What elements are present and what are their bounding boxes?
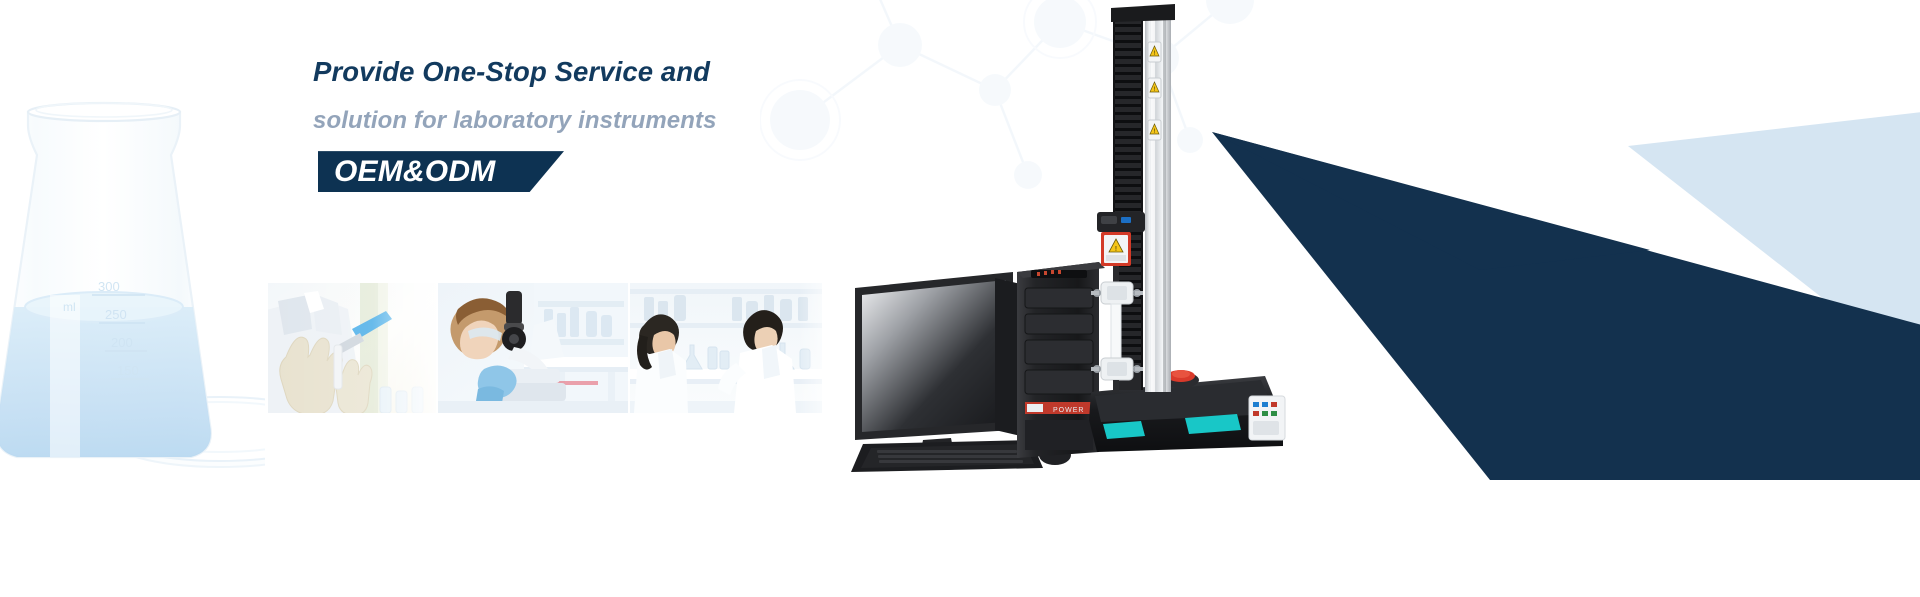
flask-grad-150: 150	[117, 363, 139, 378]
copy-block: Provide One-Stop Service and solution fo…	[313, 58, 933, 192]
badge-label: OEM&ODM	[334, 152, 495, 193]
warning-label-group: ! ! !	[1148, 42, 1161, 140]
hardware-group: POWER	[845, 0, 1920, 480]
flask-grad-300: 300	[98, 279, 120, 294]
oem-odm-badge: OEM&ODM	[318, 151, 564, 192]
headline: Provide One-Stop Service and	[313, 58, 933, 87]
subheadline: solution for laboratory instruments	[313, 108, 933, 133]
photo-gloved-hands-pipette	[268, 283, 436, 413]
flask-unit-label: ml	[63, 300, 76, 314]
universal-tensile-testing-machine: ! ! ! !	[1089, 4, 1285, 452]
photo-lab-technicians	[630, 283, 822, 413]
flask-grad-200: 200	[111, 335, 133, 350]
crosshead-warning-glyph: !	[1115, 246, 1117, 253]
desktop-monitor	[855, 272, 1021, 470]
petri-dish	[104, 397, 265, 467]
lab-photo-strip	[268, 283, 822, 413]
erlenmeyer-flask: 300 250 200 150 ml	[0, 95, 265, 495]
tower-brand-label: POWER	[1053, 407, 1084, 414]
flask-grad-250: 250	[105, 307, 127, 322]
promo-banner: 300 250 200 150 ml Provide One-Stop Serv…	[0, 0, 1920, 597]
base-accent-left	[1103, 421, 1145, 439]
photo-scientist-microscope	[438, 283, 628, 413]
